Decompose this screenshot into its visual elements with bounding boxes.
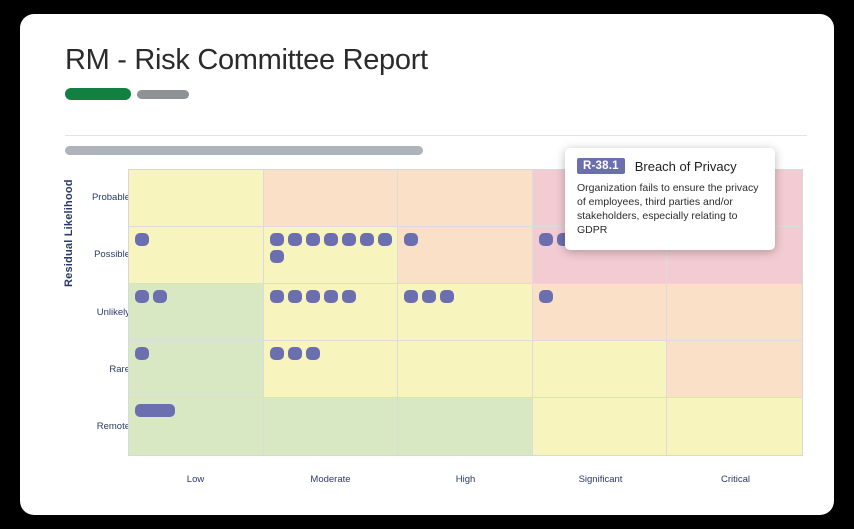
risk-id-badge: R-38.1 <box>577 158 625 174</box>
risk-dot[interactable] <box>135 233 149 246</box>
risk-dot-group <box>135 404 263 417</box>
risk-dot-group <box>270 290 398 303</box>
risk-dot[interactable] <box>270 250 284 263</box>
matrix-cell-unlikely-critical[interactable] <box>667 284 802 341</box>
matrix-cell-possible-moderate[interactable] <box>264 227 399 284</box>
matrix-cell-probable-high[interactable] <box>398 170 533 227</box>
risk-dot[interactable] <box>270 290 284 303</box>
risk-dot-group <box>135 290 263 303</box>
risk-tooltip: R-38.1 Breach of Privacy Organization fa… <box>565 148 775 250</box>
matrix-cell-rare-low[interactable] <box>129 341 264 398</box>
matrix-cell-rare-moderate[interactable] <box>264 341 399 398</box>
y-axis-tick-probable: Probable <box>79 192 130 203</box>
risk-dot[interactable] <box>342 233 356 246</box>
tooltip-header: R-38.1 Breach of Privacy <box>577 158 763 174</box>
risk-dot-group <box>404 233 532 246</box>
risk-dot[interactable] <box>135 290 149 303</box>
risk-matrix-chart: Residual Likelihood ProbablePossibleUnli… <box>65 169 807 489</box>
matrix-cell-remote-critical[interactable] <box>667 398 802 455</box>
risk-dot[interactable] <box>539 290 553 303</box>
risk-dot[interactable] <box>324 290 338 303</box>
risk-dot-group <box>135 347 263 360</box>
risk-dot[interactable] <box>135 347 149 360</box>
risk-dot-cluster[interactable] <box>135 404 175 417</box>
report-card: RM - Risk Committee Report Residual Like… <box>20 14 834 515</box>
risk-dot[interactable] <box>378 233 392 246</box>
status-badge-primary <box>65 88 131 100</box>
risk-dot-group <box>404 290 532 303</box>
risk-dot[interactable] <box>360 233 374 246</box>
matrix-cell-unlikely-moderate[interactable] <box>264 284 399 341</box>
risk-dot[interactable] <box>342 290 356 303</box>
x-axis-tick-high: High <box>398 462 533 488</box>
matrix-cell-possible-high[interactable] <box>398 227 533 284</box>
status-badge-secondary <box>137 90 189 99</box>
matrix-cell-remote-significant[interactable] <box>533 398 668 455</box>
matrix-cell-remote-high[interactable] <box>398 398 533 455</box>
risk-dot[interactable] <box>270 347 284 360</box>
matrix-cell-probable-low[interactable] <box>129 170 264 227</box>
risk-dot[interactable] <box>422 290 436 303</box>
y-axis-ticks: ProbablePossibleUnlikelyRareRemote <box>79 169 130 456</box>
matrix-cell-rare-significant[interactable] <box>533 341 668 398</box>
risk-dot[interactable] <box>288 347 302 360</box>
risk-dot[interactable] <box>440 290 454 303</box>
risk-dot[interactable] <box>288 233 302 246</box>
matrix-cell-remote-low[interactable] <box>129 398 264 455</box>
risk-dot[interactable] <box>306 233 320 246</box>
matrix-cell-remote-moderate[interactable] <box>264 398 399 455</box>
x-axis-tick-significant: Significant <box>533 462 668 488</box>
risk-dot[interactable] <box>324 233 338 246</box>
y-axis-title: Residual Likelihood <box>63 179 75 287</box>
risk-dot[interactable] <box>539 233 553 246</box>
risk-dot[interactable] <box>306 347 320 360</box>
risk-dot[interactable] <box>404 290 418 303</box>
risk-dot-group <box>270 347 398 360</box>
y-axis-tick-possible: Possible <box>79 249 130 260</box>
header-divider <box>65 135 807 136</box>
risk-dot-group <box>539 290 667 303</box>
subtitle-placeholder-bar <box>65 146 423 155</box>
risk-dot-group <box>135 233 263 246</box>
risk-dot[interactable] <box>404 233 418 246</box>
risk-dot[interactable] <box>153 290 167 303</box>
matrix-cell-unlikely-significant[interactable] <box>533 284 668 341</box>
risk-description: Organization fails to ensure the privacy… <box>577 181 763 237</box>
y-axis-tick-rare: Rare <box>79 364 130 375</box>
x-axis-tick-moderate: Moderate <box>263 462 398 488</box>
x-axis-tick-critical: Critical <box>668 462 803 488</box>
x-axis-tick-low: Low <box>128 462 263 488</box>
matrix-cell-probable-moderate[interactable] <box>264 170 399 227</box>
risk-dot-group <box>270 233 398 263</box>
y-axis-tick-remote: Remote <box>79 421 130 432</box>
page-title: RM - Risk Committee Report <box>65 44 428 77</box>
matrix-cell-rare-critical[interactable] <box>667 341 802 398</box>
risk-title: Breach of Privacy <box>635 159 737 174</box>
matrix-cell-rare-high[interactable] <box>398 341 533 398</box>
risk-dot[interactable] <box>288 290 302 303</box>
x-axis-ticks: LowModerateHighSignificantCritical <box>128 462 803 488</box>
matrix-cell-unlikely-low[interactable] <box>129 284 264 341</box>
risk-dot[interactable] <box>270 233 284 246</box>
matrix-cell-unlikely-high[interactable] <box>398 284 533 341</box>
matrix-cell-possible-low[interactable] <box>129 227 264 284</box>
y-axis-tick-unlikely: Unlikely <box>79 307 130 318</box>
risk-dot[interactable] <box>306 290 320 303</box>
